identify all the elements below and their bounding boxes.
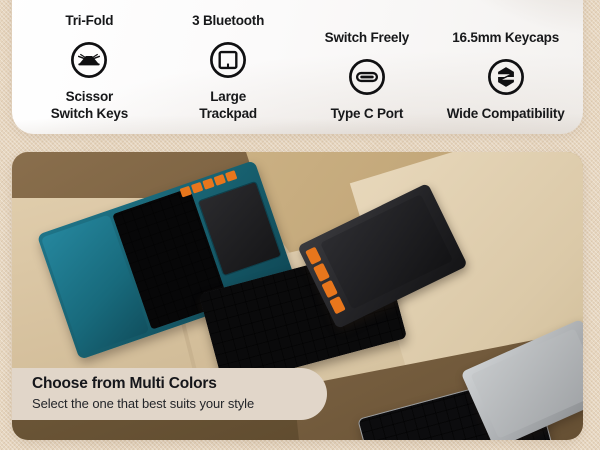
feature-column-large-trackpad: 3 Bluetooth Large Trackpad: [159, 0, 298, 134]
keyboard-trackpad-black: [320, 194, 453, 310]
feature-top-label-16-5mm-keycaps: 16.5mm Keycaps: [452, 30, 559, 45]
product-photo-panel: Choose from Multi Colors Select the one …: [12, 152, 583, 440]
wide-compatibility-icon: [487, 58, 525, 96]
feature-top-label-3-bluetooth: 3 Bluetooth: [192, 13, 264, 28]
caption-subtitle: Select the one that best suits your styl…: [32, 396, 307, 413]
feature-grid: Tri-Fold Scissor Switch Keys 3 Bluetooth: [12, 0, 583, 134]
multi-colors-caption-banner: Choose from Multi Colors Select the one …: [12, 368, 327, 420]
feature-highlights-card: Tri-Fold Scissor Switch Keys 3 Bluetooth: [12, 0, 583, 134]
feature-bottom-label-scissor-switch-keys: Scissor Switch Keys: [51, 88, 128, 122]
feature-column-type-c-port: Switch Freely Type C Port: [298, 0, 437, 134]
scissor-switch-icon: [70, 41, 108, 79]
usb-type-c-port-icon: [348, 58, 386, 96]
trackpad-icon: [209, 41, 247, 79]
feature-column-wide-compatibility: 16.5mm Keycaps Wide Compatibility: [436, 0, 575, 134]
product-keyboard-silver: [372, 342, 583, 440]
feature-column-scissor-switch-keys: Tri-Fold Scissor Switch Keys: [20, 0, 159, 134]
feature-bottom-label-wide-compatibility: Wide Compatibility: [447, 105, 565, 122]
feature-top-label-tri-fold: Tri-Fold: [65, 13, 113, 28]
feature-top-label-switch-freely: Switch Freely: [325, 30, 409, 45]
keyboard-trackpad-silver: [470, 328, 583, 438]
feature-bottom-label-type-c-port: Type C Port: [331, 105, 404, 122]
feature-bottom-label-large-trackpad: Large Trackpad: [199, 88, 257, 122]
caption-title: Choose from Multi Colors: [32, 375, 307, 394]
product-keyboard-black: [212, 210, 452, 360]
